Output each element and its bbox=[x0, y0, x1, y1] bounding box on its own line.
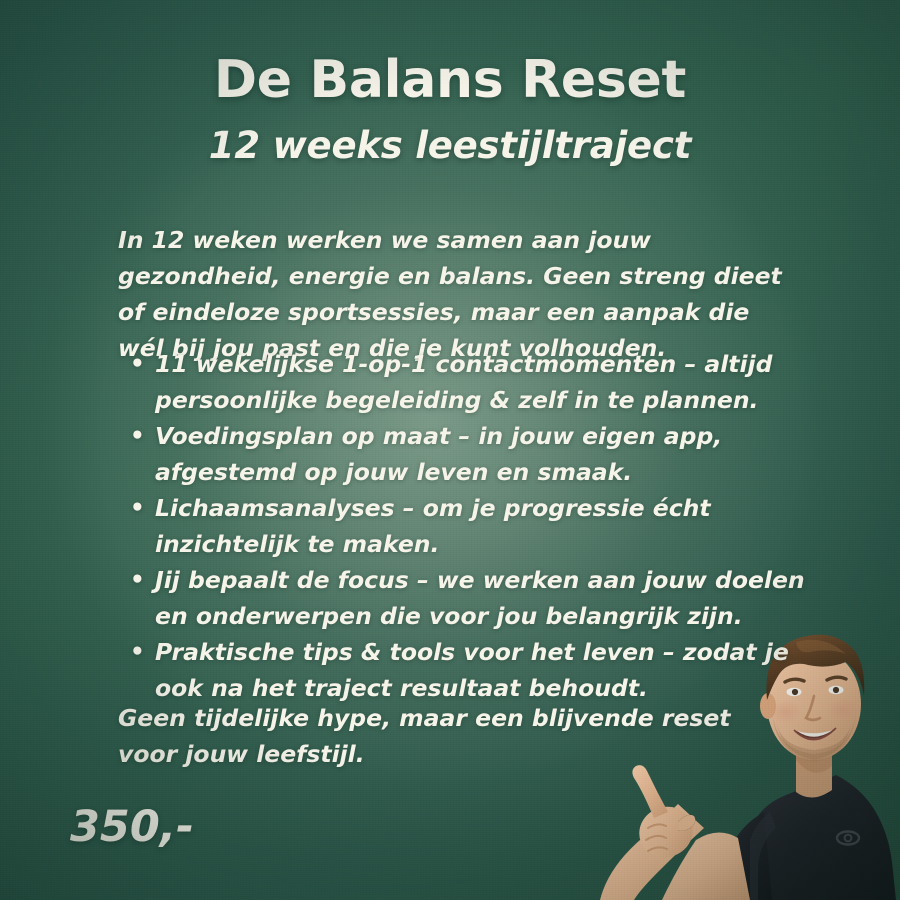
list-item: Praktische tips & tools voor het leven –… bbox=[118, 634, 808, 706]
closing-statement: Geen tijdelijke hype, maar een blijvende… bbox=[118, 700, 778, 772]
page-title: De Balans Reset bbox=[0, 50, 900, 110]
pointing-arm bbox=[600, 765, 750, 900]
page-subtitle: 12 weeks leestijltraject bbox=[0, 124, 900, 167]
intro-paragraph: In 12 weken werken we samen aan jouw gez… bbox=[118, 222, 798, 366]
price-label: 350,- bbox=[70, 802, 194, 852]
list-item: Jij bepaalt de focus – we werken aan jou… bbox=[118, 562, 808, 634]
list-item: Voedingsplan op maat – in jouw eigen app… bbox=[118, 418, 808, 490]
list-item: 11 wekelijkse 1-op-1 contactmomenten – a… bbox=[118, 346, 808, 418]
list-item: Lichaamsanalyses – om je progressie écht… bbox=[118, 490, 808, 562]
feature-list: 11 wekelijkse 1-op-1 contactmomenten – a… bbox=[118, 346, 808, 706]
promo-poster: De Balans Reset 12 weeks leestijltraject… bbox=[0, 0, 900, 900]
